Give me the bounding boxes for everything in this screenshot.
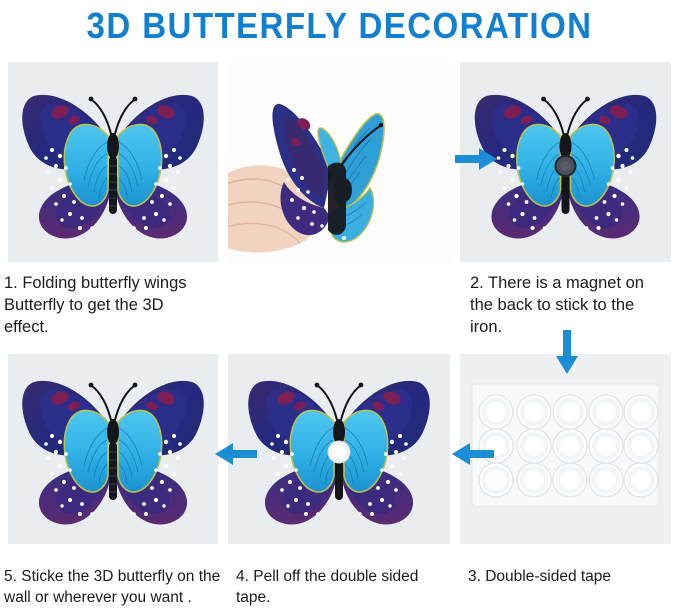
panel-step-1-butterfly-flat [8, 62, 218, 262]
caption-step-3: 3. Double-sided tape [468, 566, 673, 587]
tape-dot-grid [479, 395, 658, 497]
caption-step-2: 2. There is a magnet on the back to stic… [470, 272, 675, 338]
butterfly-tapedot-illustration [228, 354, 450, 544]
arrow-right-step1-to-step2 [455, 145, 497, 173]
butterfly-mounted-illustration [8, 354, 218, 544]
caption-step-4: 4. Pell off the double sided tape. [236, 566, 451, 608]
hand-folding-illustration [228, 62, 450, 262]
panel-step-4-butterfly-tape-dot [228, 354, 450, 544]
arrow-left-step4-to-step5 [215, 440, 257, 468]
panel-step-5-butterfly-mounted [8, 354, 218, 544]
butterfly-flat-illustration [8, 62, 218, 262]
panel-hand-folding-butterfly [228, 62, 450, 262]
arrow-left-step3-to-step4 [452, 440, 494, 468]
caption-step-1: 1. Folding butterfly wings Butterfly to … [4, 272, 229, 338]
infographic-page: 3D BUTTERFLY DECORATION [0, 0, 679, 616]
caption-step-5: 5. Sticke the 3D butterfly on the wall o… [4, 566, 232, 608]
page-title: 3D BUTTERFLY DECORATION [27, 0, 652, 52]
